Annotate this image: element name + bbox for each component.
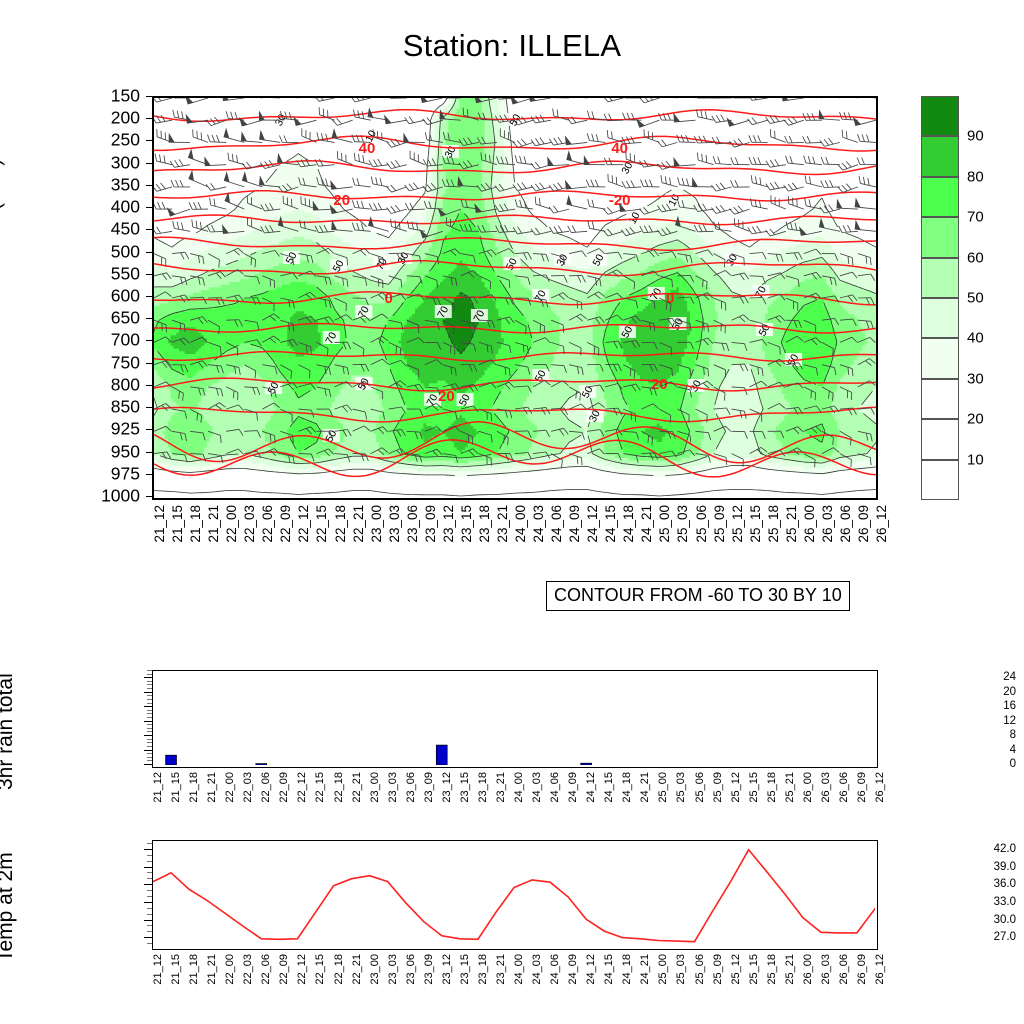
main-xtick-label: 23_00 (369, 505, 384, 543)
rain-xtick-label: 24_06 (549, 772, 561, 803)
main-xtick-label: 24_15 (603, 505, 618, 543)
temp-xtick-label: 22_12 (296, 954, 308, 985)
rain-xtick-label: 22_21 (351, 772, 363, 803)
temp-xtick-label: 23_15 (459, 954, 471, 985)
main-xtick-label: 26_09 (856, 505, 871, 543)
temp-xtick-label: 26_09 (856, 954, 868, 985)
rain-ytick-label: 24 (986, 671, 1016, 683)
main-xtick-label: 24_21 (639, 505, 654, 543)
rain-bar (436, 745, 447, 765)
rain-ytick (144, 750, 152, 751)
main-ytick-label: 350 (111, 174, 140, 195)
colorbar-band[interactable] (921, 217, 959, 257)
temp-xtick-label: 22_15 (314, 954, 326, 985)
temp-xtick-label: 23_21 (495, 954, 507, 985)
temp-xtick-label: 22_03 (242, 954, 254, 985)
rain-ytick-label: 12 (986, 715, 1016, 727)
temp-xtick-label: 25_09 (712, 954, 724, 985)
temp-ytick-label: 39.0 (976, 861, 1016, 873)
rain-xtick-label: 22_06 (260, 772, 272, 803)
main-ytick-label: 850 (111, 397, 140, 418)
main-xtick-label: 24_03 (531, 505, 546, 543)
rain-bars (153, 671, 875, 765)
temp-frame (152, 840, 878, 950)
temp-xtick-label: 23_12 (441, 954, 453, 985)
rain-xtick-label: 22_12 (296, 772, 308, 803)
rain-ytick (144, 764, 152, 765)
temp-ytick-label: 33.0 (976, 896, 1016, 908)
rain-xtick-label: 21_15 (170, 772, 182, 803)
main-xtick-label: 25_21 (784, 505, 799, 543)
temp-xtick-label: 25_06 (694, 954, 706, 985)
temp-polyline (153, 850, 875, 942)
rain-xtick-label: 21_21 (206, 772, 218, 803)
main-ytick-label: 750 (111, 352, 140, 373)
temp-xtick-label: 22_18 (333, 954, 345, 985)
main-xtick-label: 25_06 (694, 505, 709, 543)
colorbar-label: 90 (967, 128, 984, 145)
main-ytick-label: 500 (111, 241, 140, 262)
main-xtick-label: 23_12 (441, 505, 456, 543)
main-xtick-label: 22_09 (278, 505, 293, 543)
main-xtick-label: 24_09 (567, 505, 582, 543)
temp-xtick-label: 22_09 (278, 954, 290, 985)
rain-xtick-label: 26_00 (802, 772, 814, 803)
main-ytick-label: 950 (111, 441, 140, 462)
main-xtick-label: 25_03 (675, 505, 690, 543)
rain-xtick-label: 24_03 (531, 772, 543, 803)
temp-xtick-label: 24_00 (513, 954, 525, 985)
rain-ytick-label: 20 (986, 686, 1016, 698)
colorbar-label: 70 (967, 209, 984, 226)
temp-ytick-label: 42.0 (976, 843, 1016, 855)
rain-xtick-label: 24_00 (513, 772, 525, 803)
main-xtick-label: 24_12 (585, 505, 600, 543)
temp-xtick-label: 21_21 (206, 954, 218, 985)
colorbar-band[interactable] (921, 177, 959, 217)
main-ytick-label: 200 (111, 108, 140, 129)
colorbar-label: 10 (967, 451, 984, 468)
temp-xtick-label: 26_00 (802, 954, 814, 985)
rain-xtick-label: 22_15 (314, 772, 326, 803)
rain-xtick-label: 23_18 (477, 772, 489, 803)
rain-xtick-label: 21_18 (188, 772, 200, 803)
temp-xtick-label: 21_15 (170, 954, 182, 985)
rain-xtick-label: 24_18 (621, 772, 633, 803)
rain-ytick-label: 16 (986, 700, 1016, 712)
temp-ytick-label: 27.0 (976, 931, 1016, 943)
colorbar-band[interactable] (921, 136, 959, 176)
colorbar-label: 50 (967, 290, 984, 307)
rain-xtick-label: 23_12 (441, 772, 453, 803)
colorbar-band[interactable] (921, 96, 959, 136)
main-xtick-label: 23_18 (477, 505, 492, 543)
main-yaxis-labels: 1502002503003504004505005506006507007508… (60, 96, 146, 500)
rain-ytick (144, 706, 152, 707)
main-ytick-label: 400 (111, 197, 140, 218)
main-xtick-label: 21_15 (170, 505, 185, 543)
rain-ytick (144, 721, 152, 722)
colorbar-band[interactable] (921, 379, 959, 419)
rain-xtick-label: 25_12 (730, 772, 742, 803)
rain-ytick-label: 0 (986, 758, 1016, 770)
main-xtick-label: 26_06 (838, 505, 853, 543)
cross-section-frame: 1030503030105030105070503050307070707050… (152, 96, 878, 500)
rain-xtick-label: 24_21 (639, 772, 651, 803)
rain-bar (166, 755, 177, 765)
colorbar-label: 60 (967, 249, 984, 266)
rain-xtick-label: 22_18 (333, 772, 345, 803)
rain-xtick-label: 26_12 (874, 772, 886, 803)
rain-xtick-label: 26_03 (820, 772, 832, 803)
colorbar-band[interactable] (921, 419, 959, 459)
main-ytick-label: 975 (111, 463, 140, 484)
main-ytick-label: 650 (111, 308, 140, 329)
main-xtick-label: 26_03 (820, 505, 835, 543)
main-xtick-label: 24_18 (621, 505, 636, 543)
main-yaxis-title: Pressure (hPa) (0, 159, 6, 300)
temp-xtick-label: 25_03 (675, 954, 687, 985)
rain-xtick-label: 23_15 (459, 772, 471, 803)
rain-xtick-label: 24_09 (567, 772, 579, 803)
rain-xtick-label: 25_03 (675, 772, 687, 803)
rain-xtick-label: 25_09 (712, 772, 724, 803)
main-xaxis-labels: 21_1221_1521_1821_2122_0022_0322_0622_09… (152, 505, 878, 575)
temp-ytick-label: 30.0 (976, 914, 1016, 926)
main-xtick-label: 22_21 (351, 505, 366, 543)
main-ytick-label: 925 (111, 419, 140, 440)
temp-xtick-label: 22_00 (224, 954, 236, 985)
temp-xtick-label: 21_18 (188, 954, 200, 985)
contour-note-box: CONTOUR FROM -60 TO 30 BY 10 (546, 581, 850, 611)
rain-xtick-label: 26_06 (838, 772, 850, 803)
colorbar-label: 80 (967, 168, 984, 185)
rain-xtick-label: 22_00 (224, 772, 236, 803)
main-ytick-label: 800 (111, 374, 140, 395)
page-title: Station: ILLELA (0, 28, 1024, 64)
main-xtick-label: 21_21 (206, 505, 221, 543)
main-ytick-label: 450 (111, 219, 140, 240)
main-xtick-label: 22_06 (260, 505, 275, 543)
main-ytick-label: 600 (111, 286, 140, 307)
rain-frame (152, 670, 878, 768)
rain-xtick-label: 25_00 (657, 772, 669, 803)
colorbar-label: 20 (967, 411, 984, 428)
main-xtick-label: 23_15 (459, 505, 474, 543)
main-xtick-label: 21_12 (152, 505, 167, 543)
temp-xtick-label: 24_12 (585, 954, 597, 985)
rain-xtick-label: 23_00 (369, 772, 381, 803)
main-xtick-label: 22_03 (242, 505, 257, 543)
main-xtick-label: 23_06 (405, 505, 420, 543)
rain-bar (256, 764, 267, 765)
main-xtick-label: 26_12 (874, 505, 889, 543)
temp-panel-title: Temp at 2m (0, 852, 18, 962)
rain-xtick-label: 25_06 (694, 772, 706, 803)
temp-xtick-label: 22_21 (351, 954, 363, 985)
temp-xtick-label: 24_15 (603, 954, 615, 985)
colorbar-band[interactable] (921, 460, 959, 500)
temp-xtick-label: 24_21 (639, 954, 651, 985)
rain-panel-title: 3hr rain total (0, 673, 18, 790)
rain-xtick-label: 23_06 (405, 772, 417, 803)
temp-ytick (144, 920, 152, 921)
rain-xtick-label: 26_09 (856, 772, 868, 803)
temp-xtick-label: 26_12 (874, 954, 886, 985)
temp-xtick-label: 25_18 (766, 954, 778, 985)
temp-ytick (144, 849, 152, 850)
temp-xtick-label: 23_06 (405, 954, 417, 985)
main-xtick-label: 22_18 (333, 505, 348, 543)
temp-ytick (144, 902, 152, 903)
cross-section-plot: 1030503030105030105070503050307070707050… (154, 98, 876, 498)
main-ytick-label: 700 (111, 330, 140, 351)
temp-xtick-label: 24_06 (549, 954, 561, 985)
rain-xtick-label: 23_03 (387, 772, 399, 803)
main-xtick-label: 25_09 (712, 505, 727, 543)
main-xtick-label: 22_15 (314, 505, 329, 543)
rain-xtick-label: 21_12 (152, 772, 164, 803)
main-xtick-label: 23_03 (387, 505, 402, 543)
rain-xtick-label: 25_18 (766, 772, 778, 803)
temp-xtick-label: 24_03 (531, 954, 543, 985)
main-xtick-label: 26_00 (802, 505, 817, 543)
rain-xtick-label: 24_15 (603, 772, 615, 803)
rain-panel[interactable] (152, 670, 878, 768)
colorbar-label: 40 (967, 330, 984, 347)
main-ytick-label: 1000 (101, 486, 140, 507)
colorbar-band[interactable] (921, 338, 959, 378)
rain-xtick-label: 25_21 (784, 772, 796, 803)
temp-xtick-label: 21_12 (152, 954, 164, 985)
rain-xtick-label: 22_03 (242, 772, 254, 803)
temp-xtick-label: 25_15 (748, 954, 760, 985)
main-ytick-label: 550 (111, 263, 140, 284)
temp-xtick-label: 23_00 (369, 954, 381, 985)
temp-ytick-label: 36.0 (976, 878, 1016, 890)
rain-xtick-label: 23_09 (423, 772, 435, 803)
rain-xaxis-labels: 21_1221_1521_1821_2122_0022_0322_0622_09… (152, 772, 878, 832)
rain-bar (581, 763, 592, 765)
main-xtick-label: 24_06 (549, 505, 564, 543)
cross-section-panel[interactable]: 1030503030105030105070503050307070707050… (152, 96, 878, 500)
temp-xaxis-labels: 21_1221_1521_1821_2122_0022_0322_0622_09… (152, 954, 878, 1014)
temp-xtick-label: 24_09 (567, 954, 579, 985)
temp-ytick (144, 867, 152, 868)
temp-ytick (144, 884, 152, 885)
temp-ytick (144, 937, 152, 938)
main-ytick-label: 300 (111, 152, 140, 173)
colorbar-label: 30 (967, 370, 984, 387)
main-xtick-label: 23_09 (423, 505, 438, 543)
temp-line (153, 841, 875, 947)
temp-xtick-label: 24_18 (621, 954, 633, 985)
main-xtick-label: 22_12 (296, 505, 311, 543)
temp-xtick-label: 23_03 (387, 954, 399, 985)
rain-xtick-label: 22_09 (278, 772, 290, 803)
rain-ytick (144, 735, 152, 736)
main-xtick-label: 25_12 (730, 505, 745, 543)
temp-xtick-label: 26_06 (838, 954, 850, 985)
temp-xtick-label: 23_09 (423, 954, 435, 985)
temp-xtick-label: 22_06 (260, 954, 272, 985)
rain-ytick (144, 677, 152, 678)
main-xtick-label: 21_18 (188, 505, 203, 543)
main-xtick-label: 25_18 (766, 505, 781, 543)
main-xtick-label: 23_21 (495, 505, 510, 543)
rain-ytick-label: 4 (986, 744, 1016, 756)
rain-xtick-label: 25_15 (748, 772, 760, 803)
main-ytick-label: 150 (111, 86, 140, 107)
main-xtick-label: 22_00 (224, 505, 239, 543)
colorbar-band[interactable] (921, 258, 959, 298)
temp-xtick-label: 25_12 (730, 954, 742, 985)
main-xtick-label: 25_15 (748, 505, 763, 543)
temp-xtick-label: 25_00 (657, 954, 669, 985)
rain-xtick-label: 24_12 (585, 772, 597, 803)
rain-ytick (144, 692, 152, 693)
main-xtick-label: 25_00 (657, 505, 672, 543)
temp-panel[interactable] (152, 840, 878, 950)
rain-ytick-label: 8 (986, 729, 1016, 741)
temp-xtick-label: 23_18 (477, 954, 489, 985)
main-ytick-label: 250 (111, 130, 140, 151)
colorbar-band[interactable] (921, 298, 959, 338)
rain-xtick-label: 23_21 (495, 772, 507, 803)
temp-xtick-label: 25_21 (784, 954, 796, 985)
main-xtick-label: 24_00 (513, 505, 528, 543)
colorbar[interactable]: 908070605040302010 (921, 96, 959, 500)
temp-xtick-label: 26_03 (820, 954, 832, 985)
